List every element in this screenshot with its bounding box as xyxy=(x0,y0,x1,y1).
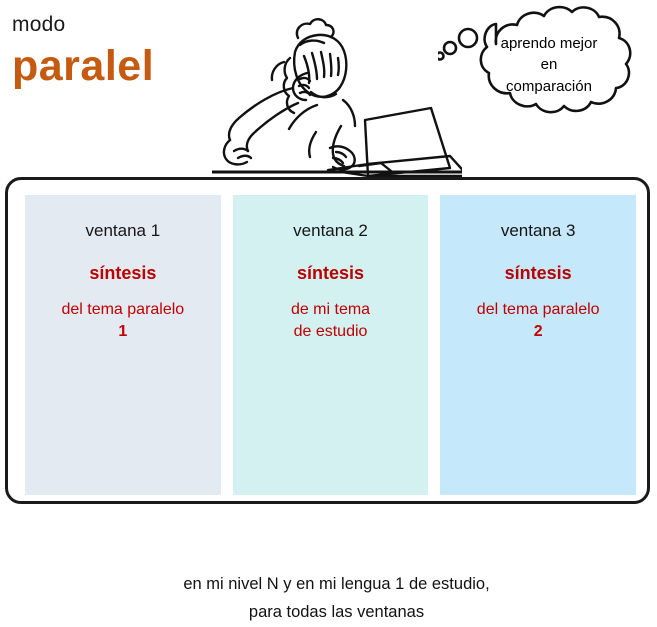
window-desc-1-line-1: del tema paralelo xyxy=(61,301,184,318)
window-heading-2: síntesis xyxy=(235,263,427,285)
window-heading-1: síntesis xyxy=(27,263,219,285)
panel-caption: en mi nivel N y en mi lengua 1 de estudi… xyxy=(25,570,648,627)
window-label-2: ventana 2 xyxy=(235,221,427,241)
window-column-2-content: ventana 2 síntesis de mi tema de estudio xyxy=(233,221,429,343)
window-column-1-content: ventana 1 síntesis del tema paralelo 1 xyxy=(25,221,221,343)
windows-columns: ventana 1 síntesis del tema paralelo 1 v… xyxy=(25,195,636,495)
window-label-3: ventana 3 xyxy=(442,221,634,241)
window-desc-2-line-1: de mi tema xyxy=(291,301,370,318)
window-desc-3-line-2: 2 xyxy=(442,321,634,343)
person-studying-illustration xyxy=(212,0,462,178)
page-title: paralel xyxy=(12,43,222,90)
window-desc-2-line-2: de estudio xyxy=(235,321,427,343)
thought-bubble-text: aprendo mejor en comparación xyxy=(470,33,628,97)
window-column-3[interactable]: ventana 3 síntesis del tema paralelo 2 xyxy=(440,195,636,495)
window-desc-1: del tema paralelo 1 xyxy=(27,299,219,343)
windows-panel: ventana 1 síntesis del tema paralelo 1 v… xyxy=(5,177,650,504)
window-column-1[interactable]: ventana 1 síntesis del tema paralelo 1 xyxy=(25,195,221,495)
panel-caption-line-2: para todas las ventanas xyxy=(25,598,648,626)
window-desc-2: de mi tema de estudio xyxy=(235,299,427,343)
thought-bubble-line-3: comparación xyxy=(470,76,628,97)
thought-bubble-line-2: en xyxy=(470,54,628,75)
panel-caption-line-1: en mi nivel N y en mi lengua 1 de estudi… xyxy=(25,570,648,598)
window-desc-3-line-1: del tema paralelo xyxy=(477,301,600,318)
window-heading-3: síntesis xyxy=(442,263,634,285)
header-area: modo paralel xyxy=(0,0,657,177)
window-column-2[interactable]: ventana 2 síntesis de mi tema de estudio xyxy=(233,195,429,495)
window-desc-3: del tema paralelo 2 xyxy=(442,299,634,343)
mode-label: modo xyxy=(12,12,222,37)
window-desc-1-line-2: 1 xyxy=(27,321,219,343)
window-label-1: ventana 1 xyxy=(27,221,219,241)
window-column-3-content: ventana 3 síntesis del tema paralelo 2 xyxy=(440,221,636,343)
title-block: modo paralel xyxy=(12,12,222,90)
thought-bubble-line-1: aprendo mejor xyxy=(470,33,628,54)
